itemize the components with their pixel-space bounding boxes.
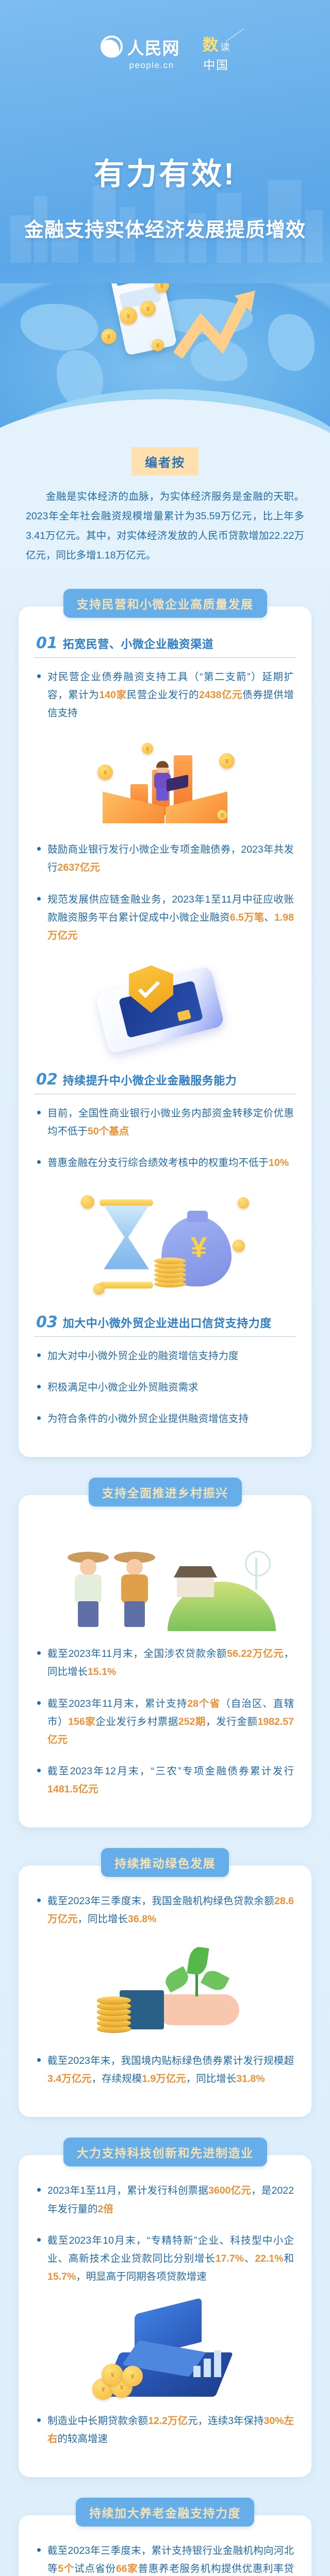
farmhouse-icon (177, 1577, 214, 1597)
coin-stack-icon (97, 1985, 133, 2032)
list-item: 目前，全国性商业银行小微业务内部资金转移定价优惠均不低于50个基点 (36, 1105, 294, 1141)
globe-illustration: ¥ ¥ ¥ ¥ ¥ (0, 283, 330, 438)
section-pill-3: 持续推动绿色发展 (101, 1848, 229, 1877)
highlight-value: 50个基点 (88, 1126, 129, 1137)
highlight-value: 31.8% (236, 2073, 265, 2084)
highlight-value: 15.1% (88, 1666, 116, 1677)
highlight-value: 3600亿元 (208, 2185, 251, 2196)
highlight-value: 15.7% (47, 2271, 76, 2282)
phone-illustration (106, 283, 177, 355)
highlight-value: 140家 (99, 689, 126, 701)
bullet-list-03: 加大对中小微外贸企业的融资增信支持力度 积极满足中小微企业外贸融资需求 为符合条… (36, 1347, 294, 1428)
highlight-value: 56.22万亿元 (227, 1648, 284, 1659)
highlight-value: 3.4万亿元 (47, 2073, 92, 2084)
infographic-page: 人民网 people.cn 数 读 中国 有力有效! 金融支持实体经济发展提质增… (0, 0, 330, 2576)
illustration-laptop-data: ¥ ¥ ¥ ¥ (32, 2299, 298, 2405)
list-item: 对民营企业债券融资支持工具（“第二支箭”）延期扩容，累计为140家民营企业发行的… (36, 668, 294, 722)
people-cn-name: 人民网 (127, 35, 180, 59)
list-item: 为符合条件的小微外贸企业提供融资增信支持 (36, 1410, 294, 1428)
highlight-value: 5个 (58, 2563, 74, 2574)
subsection-head-01: 01 拓宽民营、小微企业融资渠道 (34, 632, 296, 658)
list-item: 规范发展供应链金融业务，2023年1至11月中征应收账款融资服务平台累计促成中小… (36, 891, 294, 945)
bar-chart-icon (193, 2349, 229, 2377)
hero-title-line2: 金融支持实体经济发展提质增效 (0, 214, 330, 242)
subsection-title-01: 拓宽民营、小微企业融资渠道 (63, 635, 214, 652)
windmill-icon (255, 1558, 257, 1590)
highlight-value: 1.9万亿元 (142, 2073, 186, 2084)
list-item: 截至2023年三季度末，累计支持银行业金融机构向河北等5个试点省份66家普惠养老… (36, 2542, 294, 2576)
highlight-value: 2637亿元 (58, 862, 100, 873)
highlight-value: 1481.5亿元 (47, 1784, 98, 1795)
section-card-1: 01 拓宽民营、小微企业融资渠道 对民营企业债券融资支持工具（“第二支箭”）延期… (19, 606, 311, 1457)
section-green-development: 持续推动绿色发展 截至2023年三季度末，我国金融机构绿色贷款余额28.6万亿元… (19, 1848, 311, 2117)
subsection-head-03: 03 加大中小微外贸企业进出口信贷支持力度 (34, 1311, 296, 1337)
zhongguo-chars: 中国 (203, 55, 229, 73)
bullet-list-green-b: 截至2023年末，我国境内贴标绿色债券累计发行规模超3.4万亿元，存续规模1.9… (36, 2052, 294, 2088)
editor-note-block: 编者按 金融是实体经济的血脉，为实体经济服务是金融的天职。2023年全年社会融资… (0, 438, 330, 568)
highlight-value: 252期 (178, 1716, 206, 1727)
illustration-growth-box: ¥ ¥ ¥ ¥ (32, 736, 298, 834)
highlight-value: 6.5万笔 (230, 912, 265, 923)
list-item: 积极满足中小微企业外贸融资需求 (36, 1379, 294, 1397)
shudu-zhongguo-logo: 数 读 中国 (203, 32, 230, 73)
farmer-illustration-2 (116, 1552, 153, 1629)
section-pill-4: 大力支持科技创新和先进制造业 (63, 2138, 267, 2166)
highlight-value: 17.7% (216, 2253, 244, 2264)
coin-stack-icon (154, 1257, 186, 1287)
people-cn-domain: people.cn (129, 60, 174, 71)
section-rural-revitalization: 支持全面推进乡村振兴 (19, 1478, 311, 1827)
subsection-number-03: 03 (36, 1313, 58, 1331)
highlight-value: 22.1% (255, 2253, 283, 2264)
list-item: 加大对中小微外贸企业的融资增信支持力度 (36, 1347, 294, 1365)
highlight-value: 28个省 (187, 1698, 220, 1709)
bullet-list-02: 目前，全国性商业银行小微业务内部资金转移定价优惠均不低于50个基点 普惠金融在分… (36, 1105, 294, 1172)
list-item: 普惠金融在分支行综合绩效考核中的权重均不低于10% (36, 1154, 294, 1172)
section-private-small-micro: 支持民营和小微企业高质量发展 01 拓宽民营、小微企业融资渠道 对民营企业债券融… (19, 589, 311, 1457)
du-char: 读 (221, 40, 230, 54)
shu-char: 数 (203, 32, 219, 55)
illustration-farmers (32, 1522, 298, 1638)
section-pension-finance: 持续加大养老金融支持力度 截至2023年三季度末，累计支持银行业金融机构向河北等… (19, 2498, 311, 2576)
farmer-illustration-1 (70, 1552, 107, 1629)
section-pill-2: 支持全面推进乡村振兴 (89, 1478, 242, 1506)
bullet-list-01b: 鼓励商业银行发行小微企业专项金融债券，2023年共发行2637亿元 规范发展供应… (36, 841, 294, 944)
section-card-3: 截至2023年三季度末，我国金融机构绿色贷款余额28.6万亿元，同比增长36.8… (19, 1866, 311, 2117)
bullet-list-tech-a: 2023年1至11月，累计发行科创票据3600亿元，是2022年发行量的2倍 截… (36, 2182, 294, 2285)
illustration-hourglass-money: ¥ (32, 1185, 298, 1304)
subsection-head-02: 02 持续提升中小微企业金融服务能力 (34, 1069, 296, 1094)
highlight-value: 156家 (68, 1716, 95, 1727)
people-cn-logo: 人民网 people.cn (101, 35, 180, 71)
bullet-list-rural: 截至2023年11月末，全国涉农贷款余额56.22万亿元，同比增长15.1% 截… (36, 1645, 294, 1799)
list-item: 截至2023年12月末，“三农”专项金融债券累计发行1481.5亿元 (36, 1762, 294, 1799)
hourglass-icon (100, 1199, 153, 1206)
hero-banner: 人民网 people.cn 数 读 中国 有力有效! 金融支持实体经济发展提质增… (0, 0, 330, 330)
illustration-secure-payment (32, 958, 298, 1061)
coin-cluster-icon: ¥ ¥ ¥ ¥ (92, 2364, 154, 2400)
list-item: 截至2023年11月末，全国涉农贷款余额56.22万亿元，同比增长15.1% (36, 1645, 294, 1681)
hand-icon (157, 1994, 239, 2025)
hero-title-line1: 有力有效! (0, 149, 330, 193)
subsection-number-01: 01 (36, 634, 58, 652)
section-card-2: 截至2023年11月末，全国涉农贷款余额56.22万亿元，同比增长15.1% 截… (19, 1495, 311, 1827)
highlight-value: 36.8% (128, 1913, 156, 1925)
subsection-title-02: 持续提升中小微企业金融服务能力 (63, 1072, 237, 1088)
list-item: 鼓励商业银行发行小微企业专项金融债券，2023年共发行2637亿元 (36, 841, 294, 877)
section-pill-1: 支持民营和小微企业高质量发展 (63, 589, 267, 618)
highlight-value: 28.6万亿元 (47, 1895, 294, 1925)
people-globe-icon (101, 36, 123, 58)
leaf-icon (201, 1967, 230, 1994)
list-item: 截至2023年三季度末，我国金融机构绿色贷款余额28.6万亿元，同比增长36.8… (36, 1892, 294, 1928)
editor-note-text: 金融是实体经济的血脉，为实体经济服务是金融的天职。2023年全年社会融资规模增量… (26, 487, 304, 565)
highlight-value: 12.2万亿 (148, 2415, 188, 2427)
bullet-list-pension-a: 截至2023年三季度末，累计支持银行业金融机构向河北等5个试点省份66家普惠养老… (36, 2542, 294, 2576)
highlight-value: 2倍 (98, 2204, 113, 2215)
bullet-list-01: 对民营企业债券融资支持工具（“第二支箭”）延期扩容，累计为140家民营企业发行的… (36, 668, 294, 722)
illustration-green-sprout (32, 1942, 298, 2045)
section-pill-5: 持续加大养老金融支持力度 (76, 2498, 254, 2527)
subsection-title-03: 加大中小微外贸企业进出口信贷支持力度 (63, 1314, 272, 1331)
highlight-value: 10% (269, 1157, 289, 1168)
list-item: 2023年1至11月，累计发行科创票据3600亿元，是2022年发行量的2倍 (36, 2182, 294, 2218)
section-tech-innovation: 大力支持科技创新和先进制造业 2023年1至11月，累计发行科创票据3600亿元… (19, 2138, 311, 2477)
list-item: 截至2023年末，我国境内贴标绿色债券累计发行规模超3.4万亿元，存续规模1.9… (36, 2052, 294, 2088)
section-card-4: 2023年1至11月，累计发行科创票据3600亿元，是2022年发行量的2倍 截… (19, 2155, 311, 2477)
bullet-list-tech-b: 制造业中长期贷款余额12.2万亿元，连续3年保持30%左右的较高增速 (36, 2412, 294, 2448)
highlight-value: 66家 (116, 2563, 138, 2574)
list-item: 截至2023年10月末，“专精特新”企业、科技型中小企业、高新技术企业贷款同比分… (36, 2232, 294, 2286)
bullet-list-green-a: 截至2023年三季度末，我国金融机构绿色贷款余额28.6万亿元，同比增长36.8… (36, 1892, 294, 1928)
growth-arrow-icon (173, 283, 260, 361)
leaf-icon (187, 1946, 209, 1976)
logo-group: 人民网 people.cn 数 读 中国 (0, 32, 330, 73)
list-item: 截至2023年11月末，累计支持28个省（自治区、直辖市）156家企业发行乡村票… (36, 1695, 294, 1749)
highlight-value: 2438亿元 (199, 689, 242, 701)
subsection-number-02: 02 (36, 1071, 58, 1089)
list-item: 制造业中长期贷款余额12.2万亿元，连续3年保持30%左右的较高增速 (36, 2412, 294, 2448)
editor-note-badge: 编者按 (131, 447, 199, 476)
chart-line-decoration (225, 29, 243, 42)
